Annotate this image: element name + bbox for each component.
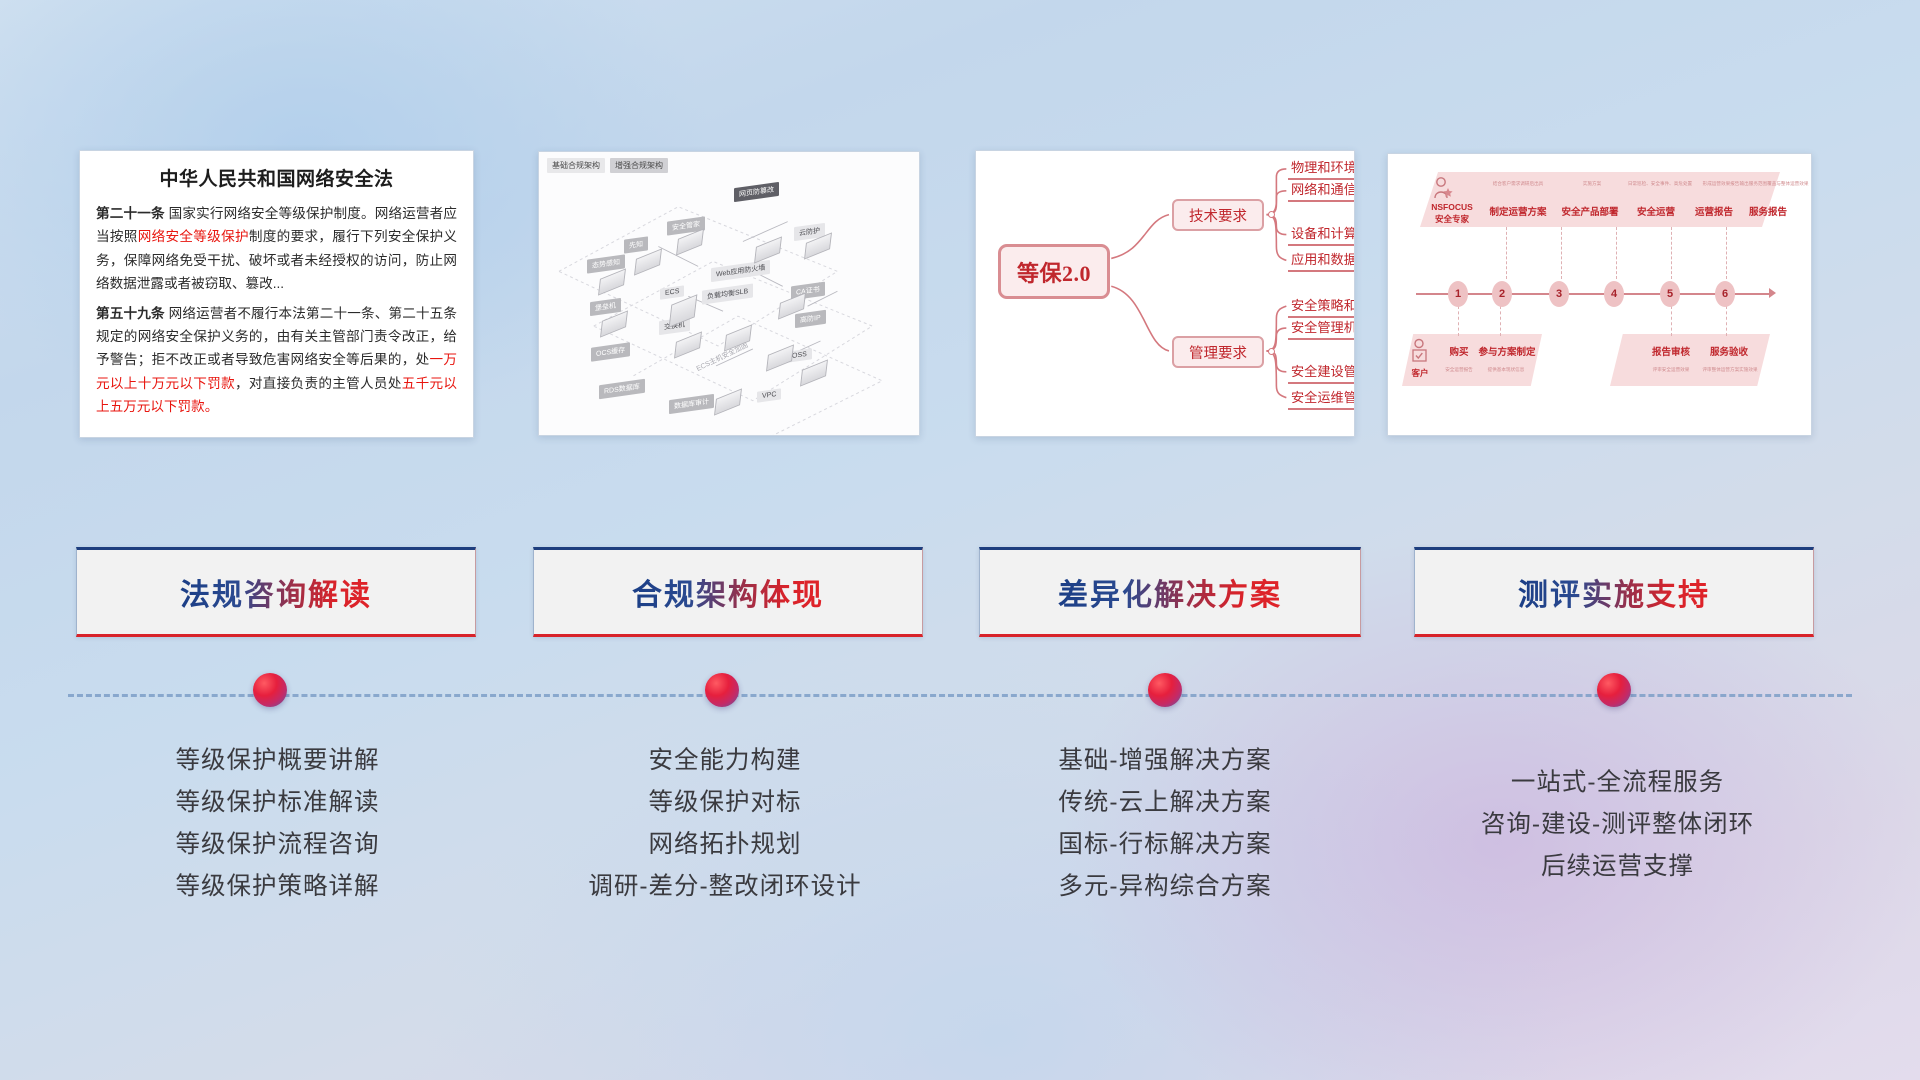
list-item: 多元-异构综合方案	[975, 866, 1355, 908]
card-compliance-architecture[interactable]: 基础合规架构 增强合规架构 网页防	[538, 151, 920, 436]
list-item: 等级保护标准解读	[90, 782, 465, 824]
nsfocus-top-main-4: 安全运营	[1626, 204, 1686, 218]
list-item: 等级保护概要讲解	[90, 740, 465, 782]
list-item: 后续运营支撑	[1420, 846, 1815, 888]
expert-avatar-icon	[1432, 176, 1454, 202]
section-title-box-0[interactable]: 法规咨询解读	[76, 547, 476, 637]
nsfocus-connector-b5	[1671, 306, 1672, 336]
list-item: 一站式-全流程服务	[1420, 762, 1815, 804]
mindmap-root: 等保2.0	[998, 244, 1110, 299]
timeline-dot-3[interactable]	[1597, 673, 1631, 707]
nsfocus-bottom-main-5: 报告审核	[1642, 344, 1700, 358]
nsfocus-bottom-note-6: 评审整体运营方案实施效果	[1690, 367, 1770, 373]
law-article-59-label: 第五十九条	[96, 306, 165, 321]
nsfocus-brand-label: NSFOCUS	[1424, 202, 1480, 212]
section-title-text-0: 法规咨询解读	[180, 570, 372, 614]
law-article-21: 第二十一条 国家实行网络安全等级保护制度。网络运营者应当按照网络安全等级保护制度…	[96, 202, 457, 296]
mindmap-leaf-physical-env: 物理和环境安全	[1288, 157, 1355, 180]
section-items-column-1: 安全能力构建 等级保护对标 网络拓扑规划 调研-差分-整改闭环设计	[535, 740, 915, 909]
architecture-diagram: 基础合规架构 增强合规架构 网页防	[539, 152, 919, 435]
list-item: 等级保护流程咨询	[90, 824, 465, 866]
nsfocus-connector-3	[1561, 227, 1562, 279]
customer-avatar-icon	[1410, 338, 1430, 366]
nsfocus-bottom-main-2: 参与方案制定	[1476, 344, 1538, 358]
section-items-column-3: 一站式-全流程服务 咨询-建设-测评整体闭环 后续运营支撑	[1420, 762, 1815, 888]
nsfocus-connector-b6	[1726, 306, 1727, 336]
law-document: 中华人民共和国网络安全法 第二十一条 国家实行网络安全等级保护制度。网络运营者应…	[80, 151, 473, 428]
nsfocus-top-main-3: 安全产品部署	[1548, 204, 1632, 218]
list-item: 网络拓扑规划	[535, 824, 915, 866]
mindmap-leaf-policy-system: 安全策略和管理制度	[1288, 295, 1355, 318]
section-titles-row: 法规咨询解读 合规架构体现 差异化解决方案 测评实施支持	[0, 547, 1920, 647]
nsfocus-connector-b2	[1500, 306, 1501, 336]
section-title-text-1: 合规架构体现	[632, 570, 824, 614]
law-article-21-label: 第二十一条	[96, 206, 165, 221]
nsfocus-step-circle-2[interactable]: 2	[1492, 281, 1512, 307]
nsfocus-connector-2	[1506, 227, 1507, 279]
mindmap-collapse-dot-technical[interactable]	[1268, 211, 1275, 218]
nsfocus-step-circle-4[interactable]: 4	[1604, 281, 1624, 307]
list-item: 等级保护策略详解	[90, 866, 465, 908]
nsfocus-step-circle-6[interactable]: 6	[1715, 281, 1735, 307]
list-item: 等级保护对标	[535, 782, 915, 824]
mindmap: 等保2.0 技术要求 物理和环境安全 网络和通信安全 设备和计算安全 应用和数据…	[976, 151, 1354, 436]
mindmap-leaf-app-data: 应用和数据安全	[1288, 249, 1355, 272]
list-item: 安全能力构建	[535, 740, 915, 782]
nsfocus-connector-6	[1726, 227, 1727, 279]
card-nsfocus-timeline[interactable]: NSFOCUS 安全专家 客户 结合客户需求调研后出具 制定运营方案 实施方案 …	[1387, 153, 1812, 436]
nsfocus-top-note-6: 输出服务范围覆盖与整体运营效果	[1732, 181, 1812, 187]
section-title-box-1[interactable]: 合规架构体现	[533, 547, 923, 637]
nsfocus-bottom-note-2: 提供基本现状信息	[1474, 367, 1538, 373]
list-item: 国标-行标解决方案	[975, 824, 1355, 866]
nsfocus-bottom-main-1: 购买	[1440, 344, 1478, 358]
nsfocus-axis-arrow-icon	[1769, 288, 1776, 298]
nsfocus-expert-label: 安全专家	[1424, 213, 1480, 225]
list-item: 咨询-建设-测评整体闭环	[1420, 804, 1815, 846]
list-item: 传统-云上解决方案	[975, 782, 1355, 824]
nsfocus-bottom-main-6: 服务验收	[1700, 344, 1758, 358]
law-article-21-highlight: 网络安全等级保护	[138, 229, 249, 244]
nsfocus-step-circle-5[interactable]: 5	[1660, 281, 1680, 307]
list-item: 基础-增强解决方案	[975, 740, 1355, 782]
customer-label: 客户	[1406, 367, 1434, 379]
section-title-box-2[interactable]: 差异化解决方案	[979, 547, 1361, 637]
section-title-text-3: 测评实施支持	[1518, 570, 1710, 614]
nsfocus-connector-b1	[1458, 306, 1459, 336]
card-cybersecurity-law[interactable]: 中华人民共和国网络安全法 第二十一条 国家实行网络安全等级保护制度。网络运营者应…	[79, 150, 474, 438]
section-items-column-2: 基础-增强解决方案 传统-云上解决方案 国标-行标解决方案 多元-异构综合方案	[975, 740, 1355, 909]
mindmap-leaf-ops-mgmt: 安全运维管理	[1288, 387, 1355, 410]
timeline-dashed-line	[68, 694, 1852, 697]
preview-cards-row: 中华人民共和国网络安全法 第二十一条 国家实行网络安全等级保护制度。网络运营者应…	[0, 150, 1920, 440]
section-items-column-0: 等级保护概要讲解 等级保护标准解读 等级保护流程咨询 等级保护策略详解	[90, 740, 465, 909]
mindmap-leaf-network-comm: 网络和通信安全	[1288, 179, 1355, 202]
nsfocus-customer-band-right	[1610, 334, 1770, 386]
timeline-dot-0[interactable]	[253, 673, 287, 707]
mindmap-branch-management: 管理要求	[1172, 336, 1264, 368]
nsfocus-connector-5	[1671, 227, 1672, 279]
mindmap-leaf-device-compute: 设备和计算安全	[1288, 223, 1355, 246]
nsfocus-top-note-2: 结合客户需求调研后出具	[1476, 181, 1560, 187]
timeline-dot-2[interactable]	[1148, 673, 1182, 707]
nsfocus-top-main-6: 服务报告	[1738, 204, 1798, 218]
nsfocus-process-diagram: NSFOCUS 安全专家 客户 结合客户需求调研后出具 制定运营方案 实施方案 …	[1388, 154, 1811, 435]
mindmap-collapse-dot-management[interactable]	[1268, 348, 1275, 355]
nsfocus-step-circle-3[interactable]: 3	[1549, 281, 1569, 307]
mindmap-leaf-construction-mgmt: 安全建设管理	[1288, 361, 1355, 384]
law-article-59-text-b: ，对直接负责的主管人员处	[235, 376, 402, 391]
nsfocus-step-circle-1[interactable]: 1	[1448, 281, 1468, 307]
law-article-59: 第五十九条 网络运营者不履行本法第二十一条、第二十五条规定的网络安全保护义务的，…	[96, 302, 457, 419]
list-item: 调研-差分-整改闭环设计	[535, 866, 915, 908]
law-title: 中华人民共和国网络安全法	[96, 164, 457, 191]
timeline-dot-1[interactable]	[705, 673, 739, 707]
mindmap-leaf-org-personnel: 安全管理机构和人员	[1288, 317, 1355, 340]
section-title-box-3[interactable]: 测评实施支持	[1414, 547, 1814, 637]
nsfocus-connector-4	[1616, 227, 1617, 279]
card-dengbao-mindmap[interactable]: 等保2.0 技术要求 物理和环境安全 网络和通信安全 设备和计算安全 应用和数据…	[975, 150, 1355, 437]
nsfocus-top-main-5: 运营报告	[1684, 204, 1744, 218]
section-title-text-2: 差异化解决方案	[1058, 570, 1282, 614]
mindmap-branch-technical: 技术要求	[1172, 199, 1264, 231]
